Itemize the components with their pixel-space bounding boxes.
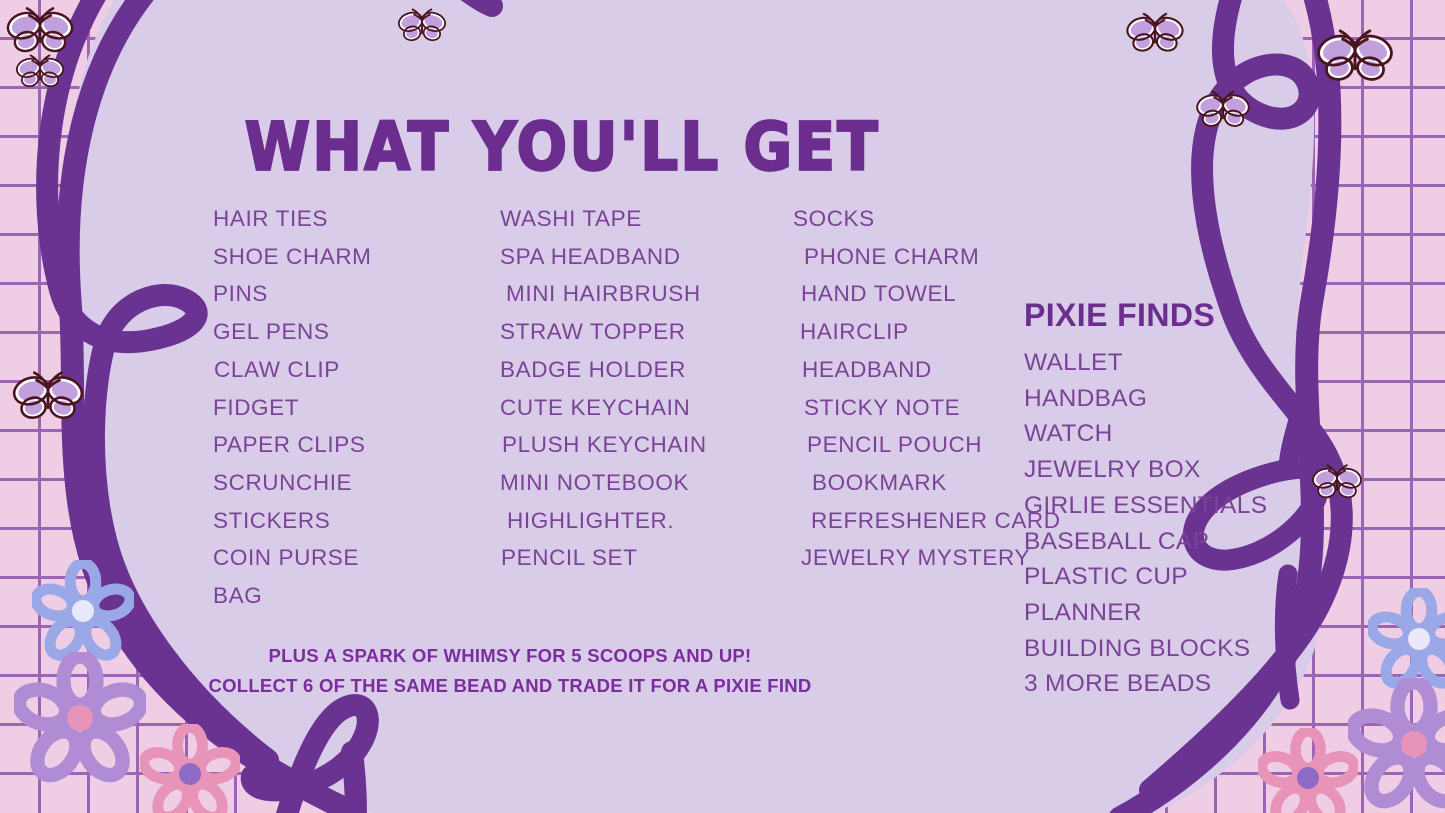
list-column-2: WASHI TAPE SPA HEADBAND MINI HAIRBRUSH S…: [500, 200, 707, 577]
list-item: SCRUNCHIE: [213, 464, 372, 502]
pixie-find-item: GIRLIE ESSENTIALS: [1024, 488, 1324, 524]
footer-line-2: COLLECT 6 OF THE SAME BEAD AND TRADE IT …: [0, 671, 1020, 701]
list-column-3: SOCKS PHONE CHARM HAND TOWEL HAIRCLIP HE…: [793, 200, 1061, 577]
list-item: PINS: [213, 275, 372, 313]
list-item: COIN PURSE: [213, 539, 372, 577]
list-item: JEWELRY MYSTERY: [801, 539, 1061, 577]
list-item: WASHI TAPE: [500, 200, 707, 238]
pixie-find-item: 3 MORE BEADS: [1024, 666, 1324, 702]
list-item: PLUSH KEYCHAIN: [502, 426, 707, 464]
list-item: PENCIL POUCH: [807, 426, 1061, 464]
list-item: PAPER CLIPS: [213, 426, 372, 464]
list-item: CLAW CLIP: [214, 351, 372, 389]
list-item: HAIRCLIP: [800, 313, 1061, 351]
footer-line-1: PLUS A SPARK OF WHIMSY FOR 5 SCOOPS AND …: [0, 641, 1020, 671]
footer-note: PLUS A SPARK OF WHIMSY FOR 5 SCOOPS AND …: [0, 641, 1020, 701]
list-item: PENCIL SET: [501, 539, 707, 577]
pixie-find-item: WALLET: [1024, 345, 1324, 381]
list-item: PHONE CHARM: [804, 238, 1061, 276]
pixie-find-item: BASEBALL CAP: [1024, 524, 1324, 560]
list-item: CUTE KEYCHAIN: [500, 389, 707, 427]
list-item: MINI NOTEBOOK: [500, 464, 707, 502]
poster-canvas: WHAT YOU'LL GET HAIR TIES SHOE CHARM PIN…: [0, 0, 1445, 813]
pixie-finds-heading: PIXIE FINDS: [1024, 299, 1324, 331]
pixie-find-item: BUILDING BLOCKS: [1024, 631, 1324, 667]
list-item: SPA HEADBAND: [500, 238, 707, 276]
list-item: HEADBAND: [802, 351, 1061, 389]
list-item: SOCKS: [793, 200, 1061, 238]
list-item: FIDGET: [213, 389, 372, 427]
list-item: STICKY NOTE: [804, 389, 1061, 427]
pixie-finds-section: PIXIE FINDS WALLET HANDBAG WATCH JEWELRY…: [1024, 299, 1324, 702]
list-column-1: HAIR TIES SHOE CHARM PINS GEL PENS CLAW …: [213, 200, 372, 615]
list-item: STICKERS: [213, 502, 372, 540]
list-item: SHOE CHARM: [213, 238, 372, 276]
pixie-find-item: HANDBAG: [1024, 381, 1324, 417]
pixie-find-item: WATCH: [1024, 416, 1324, 452]
pixie-find-item: JEWELRY BOX: [1024, 452, 1324, 488]
list-item: GEL PENS: [213, 313, 372, 351]
list-item: BADGE HOLDER: [500, 351, 707, 389]
list-item: MINI HAIRBRUSH: [506, 275, 707, 313]
pixie-find-item: PLASTIC CUP: [1024, 559, 1324, 595]
list-item: BAG: [213, 577, 372, 615]
pixie-find-item: PLANNER: [1024, 595, 1324, 631]
list-item: HAND TOWEL: [801, 275, 1061, 313]
page-title: WHAT YOU'LL GET: [0, 108, 1445, 185]
list-item: STRAW TOPPER: [500, 313, 707, 351]
list-item: HIGHLIGHTER.: [507, 502, 707, 540]
list-item: HAIR TIES: [213, 200, 372, 238]
